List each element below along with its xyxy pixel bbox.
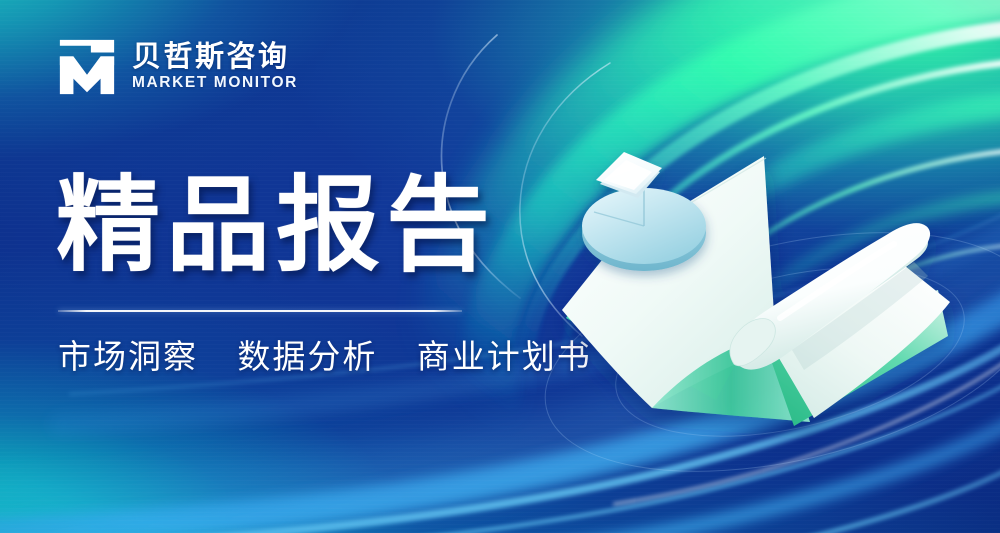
report-banner: 贝哲斯咨询 MARKET MONITOR 精品报告 市场洞察 数据分析 商业计划… xyxy=(0,0,1000,533)
book-left-page-crease xyxy=(610,158,766,251)
book-curled-page-top xyxy=(734,223,930,369)
logo-wordmark: 贝哲斯咨询 MARKET MONITOR xyxy=(132,43,298,91)
title-divider xyxy=(58,310,462,312)
subtitle-line: 市场洞察 数据分析 商业计划书 xyxy=(58,338,616,376)
book-curl-highlight xyxy=(780,244,894,318)
subtitle-part-market-insight: 市场洞察 xyxy=(58,338,198,375)
subtitle-part-business-plan: 商业计划书 xyxy=(417,338,592,375)
book-body xyxy=(562,156,950,426)
book-curl-lip xyxy=(730,319,775,366)
headline-block: 精品报告 市场洞察 数据分析 商业计划书 xyxy=(56,172,616,376)
book-curled-page-underside xyxy=(744,236,928,359)
market-monitor-logo-icon xyxy=(56,36,118,98)
book-curl-cast-shadow xyxy=(792,262,928,370)
book-right-page-edge xyxy=(764,290,948,426)
brand-logo[interactable]: 贝哲斯咨询 MARKET MONITOR xyxy=(56,36,298,98)
company-name-cn: 贝哲斯咨询 xyxy=(132,43,298,72)
book-right-page xyxy=(766,262,950,418)
subtitle-part-data-analysis: 数据分析 xyxy=(237,338,377,375)
company-name-en: MARKET MONITOR xyxy=(132,75,298,91)
book-spine-valley xyxy=(652,336,810,422)
page-title: 精品报告 xyxy=(56,172,616,280)
